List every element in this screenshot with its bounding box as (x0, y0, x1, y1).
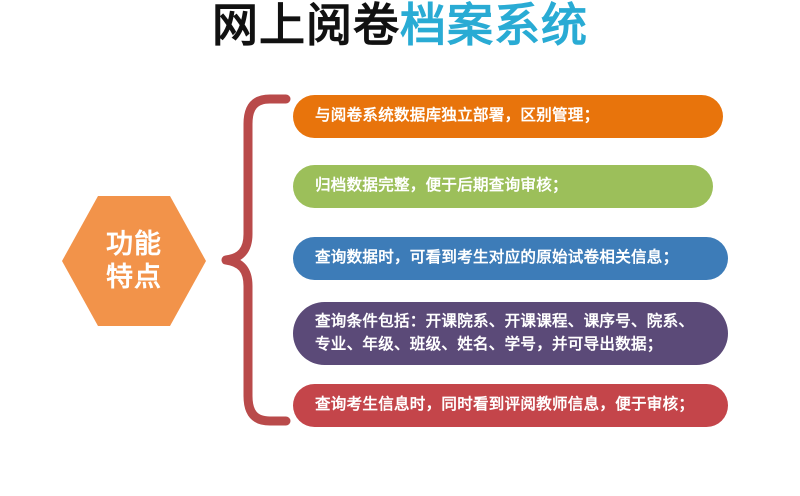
feature-pill: 查询条件包括：开课院系、开课课程、课序号、院系、 专业、年级、班级、姓名、学号，… (293, 302, 728, 365)
feature-pill-text: 查询考生信息时，同时看到评阅教师信息，便于审核； (315, 394, 706, 416)
hexagon-shape: 功能 特点 (62, 196, 206, 326)
feature-pill: 归档数据完整，便于后期查询审核； (293, 165, 713, 208)
left-curly-brace-icon (208, 92, 294, 428)
feature-pill-text: 查询条件包括：开课院系、开课课程、课序号、院系、 专业、年级、班级、姓名、学号，… (315, 311, 706, 356)
feature-pill: 与阅卷系统数据库独立部署，区别管理； (293, 95, 723, 138)
page-title: 网上阅卷档案系统 (0, 2, 800, 48)
feature-hexagon: 功能 特点 (62, 196, 206, 326)
feature-pill-text: 归档数据完整，便于后期查询审核； (315, 175, 691, 197)
feature-pill: 查询数据时，可看到考生对应的原始试卷相关信息； (293, 237, 728, 280)
feature-pill-text: 与阅卷系统数据库独立部署，区别管理； (315, 105, 701, 127)
hexagon-label: 功能 特点 (106, 228, 162, 294)
slide-canvas: 网上阅卷档案系统 功能 特点 与阅卷系统数据库独立部署，区别管理； 归档数据完整… (0, 0, 800, 496)
feature-pill: 查询考生信息时，同时看到评阅教师信息，便于审核； (293, 384, 728, 427)
feature-pill-text: 查询数据时，可看到考生对应的原始试卷相关信息； (315, 247, 706, 269)
page-title-main: 网上阅卷 (212, 0, 400, 51)
page-title-accent: 档案系统 (400, 0, 588, 51)
